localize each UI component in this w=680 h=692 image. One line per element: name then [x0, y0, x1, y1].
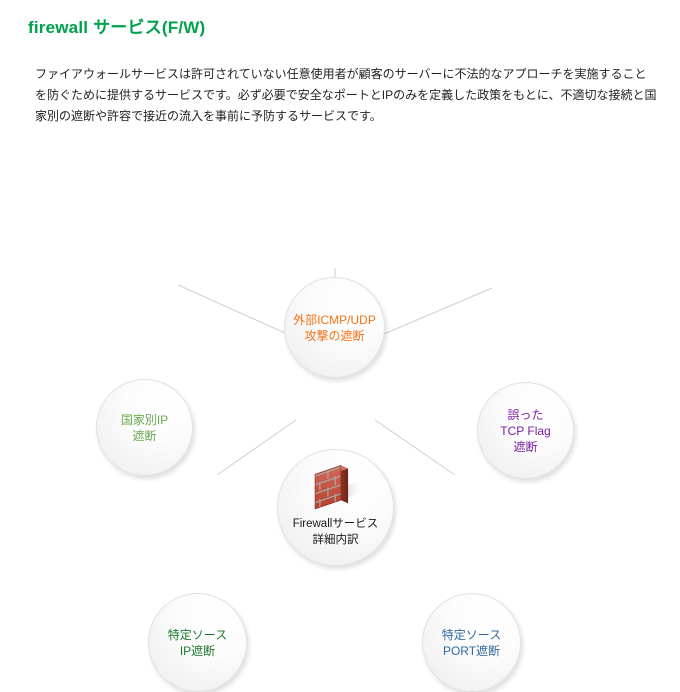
node-label-specific-source-ip-block: 特定ソース IP遮断: [168, 627, 227, 659]
node-label-firewall-service-center: Firewallサービス 詳細内訳: [293, 516, 379, 548]
node-wrong-tcp-flag-block[interactable]: 誤った TCP Flag 遮断: [477, 382, 574, 479]
node-label-country-ip-block: 国家別IP 遮断: [121, 412, 168, 444]
connector-center-to-srcport: [375, 420, 455, 475]
node-firewall-service-center[interactable]: Firewallサービス 詳細内訳: [277, 449, 394, 566]
page-title: firewall サービス(F/W): [28, 13, 205, 38]
node-label-specific-source-port-block: 特定ソース PORT遮断: [442, 627, 501, 659]
firewall-service-diagram: 外部ICMP/UDP 攻撃の遮断 国家別IP 遮断 誤った TCP Flag 遮…: [0, 130, 680, 590]
node-external-icmp-udp-block[interactable]: 外部ICMP/UDP 攻撃の遮断: [284, 277, 385, 378]
intro-paragraph: ファイアウォールサービスは許可されていない任意使用者が顧客のサーバーに不法的なア…: [35, 64, 657, 127]
node-specific-source-ip-block[interactable]: 特定ソース IP遮断: [148, 593, 247, 692]
node-label-wrong-tcp-flag-block: 誤った TCP Flag 遮断: [500, 407, 550, 455]
connector-center-to-srcip: [217, 420, 296, 475]
connector-center-to-country: [178, 285, 294, 337]
node-country-ip-block[interactable]: 国家別IP 遮断: [96, 379, 193, 476]
node-label-external-icmp-udp-block: 外部ICMP/UDP 攻撃の遮断: [293, 312, 376, 344]
node-specific-source-port-block[interactable]: 特定ソース PORT遮断: [422, 593, 521, 692]
brick-wall-icon: [310, 463, 362, 513]
connector-center-to-tcpflag: [377, 288, 492, 337]
